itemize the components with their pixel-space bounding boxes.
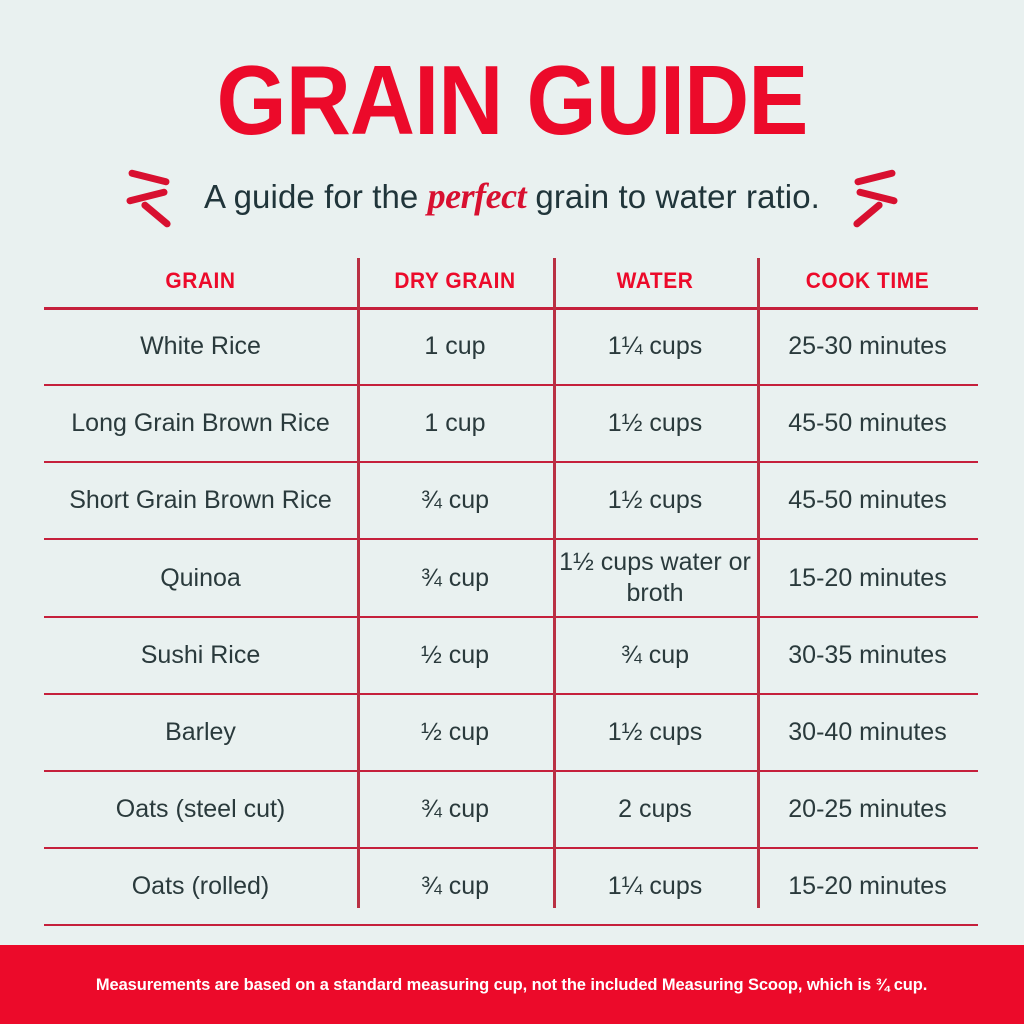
cell-water: ¾ cup <box>553 617 757 694</box>
burst-lines-right-icon <box>842 167 898 225</box>
cell-grain: Oats (rolled) <box>44 848 357 925</box>
cell-water: 1½ cups water or broth <box>553 539 757 617</box>
cell-dry-grain: 1 cup <box>357 308 553 385</box>
column-header-dry-grain: DRY GRAIN <box>362 256 548 308</box>
cell-cook-time: 30-35 minutes <box>757 617 978 694</box>
infographic-page: GRAIN GUIDE A guide for the perfect grai… <box>0 0 1024 1024</box>
column-divider-2 <box>553 258 556 908</box>
page-subtitle: A guide for the perfect grain to water r… <box>204 175 820 217</box>
cell-water: 1¼ cups <box>553 848 757 925</box>
cell-cook-time: 45-50 minutes <box>757 385 978 462</box>
grain-table-wrapper: GRAIN DRY GRAIN WATER COOK TIME White Ri… <box>44 256 978 908</box>
cell-water: 1¼ cups <box>553 308 757 385</box>
cell-water: 2 cups <box>553 771 757 848</box>
cell-cook-time: 45-50 minutes <box>757 462 978 539</box>
cell-dry-grain: ¾ cup <box>357 771 553 848</box>
footer-bar: Measurements are based on a standard mea… <box>0 945 1024 1024</box>
cell-grain: Sushi Rice <box>44 617 357 694</box>
column-divider-1 <box>357 258 360 908</box>
cell-dry-grain: 1 cup <box>357 385 553 462</box>
table-header-row: GRAIN DRY GRAIN WATER COOK TIME <box>44 256 978 308</box>
cell-dry-grain: ¾ cup <box>357 539 553 617</box>
table-row: Barley ½ cup 1½ cups 30-40 minutes <box>44 694 978 771</box>
cell-water: 1½ cups <box>553 385 757 462</box>
cell-grain: Short Grain Brown Rice <box>44 462 357 539</box>
subtitle-text-before: A guide for the <box>204 178 418 215</box>
cell-grain: Oats (steel cut) <box>44 771 357 848</box>
table-row: Oats (rolled) ¾ cup 1¼ cups 15-20 minute… <box>44 848 978 925</box>
table-row: Oats (steel cut) ¾ cup 2 cups 20-25 minu… <box>44 771 978 848</box>
cell-grain: Quinoa <box>44 539 357 617</box>
cell-cook-time: 30-40 minutes <box>757 694 978 771</box>
cell-dry-grain: ¾ cup <box>357 462 553 539</box>
column-header-cook-time: COOK TIME <box>763 256 973 308</box>
table-row: White Rice 1 cup 1¼ cups 25-30 minutes <box>44 308 978 385</box>
cell-cook-time: 20-25 minutes <box>757 771 978 848</box>
cell-dry-grain: ½ cup <box>357 617 553 694</box>
column-header-water: WATER <box>558 256 752 308</box>
cell-grain: Barley <box>44 694 357 771</box>
cell-cook-time: 25-30 minutes <box>757 308 978 385</box>
column-header-grain: GRAIN <box>52 256 349 308</box>
cell-grain: Long Grain Brown Rice <box>44 385 357 462</box>
table-row: Long Grain Brown Rice 1 cup 1½ cups 45-5… <box>44 385 978 462</box>
table-row: Sushi Rice ½ cup ¾ cup 30-35 minutes <box>44 617 978 694</box>
page-title: GRAIN GUIDE <box>41 48 983 152</box>
subtitle-accent-word: perfect <box>428 176 526 216</box>
cell-dry-grain: ¾ cup <box>357 848 553 925</box>
subtitle-text-after: grain to water ratio. <box>535 178 820 215</box>
footer-note: Measurements are based on a standard mea… <box>96 975 927 995</box>
burst-lines-left-icon <box>126 167 182 225</box>
cell-cook-time: 15-20 minutes <box>757 848 978 925</box>
cell-cook-time: 15-20 minutes <box>757 539 978 617</box>
grain-table: GRAIN DRY GRAIN WATER COOK TIME White Ri… <box>44 256 978 926</box>
subtitle-row: A guide for the perfect grain to water r… <box>0 168 1024 224</box>
table-row: Quinoa ¾ cup 1½ cups water or broth 15-2… <box>44 539 978 617</box>
cell-grain: White Rice <box>44 308 357 385</box>
table-row: Short Grain Brown Rice ¾ cup 1½ cups 45-… <box>44 462 978 539</box>
cell-dry-grain: ½ cup <box>357 694 553 771</box>
cell-water: 1½ cups <box>553 694 757 771</box>
column-divider-3 <box>757 258 760 908</box>
cell-water: 1½ cups <box>553 462 757 539</box>
